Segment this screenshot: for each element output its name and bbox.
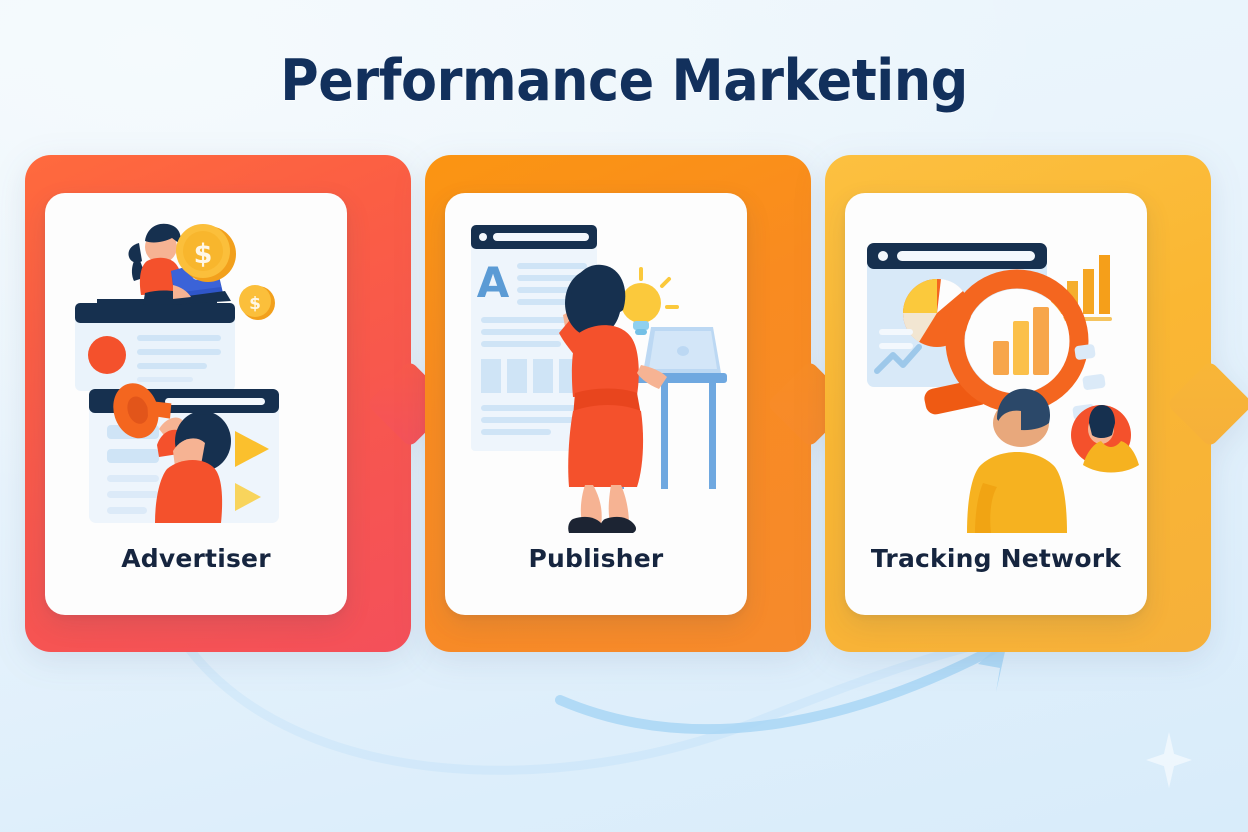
svg-text:$: $	[194, 239, 213, 270]
tracking-network-illustration	[845, 193, 1147, 533]
svg-text:$: $	[249, 294, 261, 314]
infographic-canvas: Performance Marketing	[0, 0, 1248, 832]
advertiser-illustration: $ $	[45, 193, 347, 533]
card-tracking-network[interactable]: Tracking Network	[845, 193, 1147, 615]
svg-text:A: A	[477, 258, 510, 307]
card-label-publisher: Publisher	[445, 544, 747, 573]
publisher-illustration: A	[445, 193, 747, 533]
sparkle-icon	[1146, 732, 1192, 788]
card-advertiser[interactable]: $ $	[45, 193, 347, 615]
chevron-tip-icon	[1166, 360, 1248, 448]
page-title: Performance Marketing	[50, 48, 1198, 114]
card-label-advertiser: Advertiser	[45, 544, 347, 573]
card-publisher[interactable]: A	[445, 193, 747, 615]
card-group-tracking-network[interactable]: Tracking Network	[825, 155, 1215, 652]
card-group-advertiser[interactable]: $ $	[25, 155, 415, 652]
card-group-publisher[interactable]: A	[425, 155, 815, 652]
card-label-tracking-network: Tracking Network	[845, 544, 1147, 573]
